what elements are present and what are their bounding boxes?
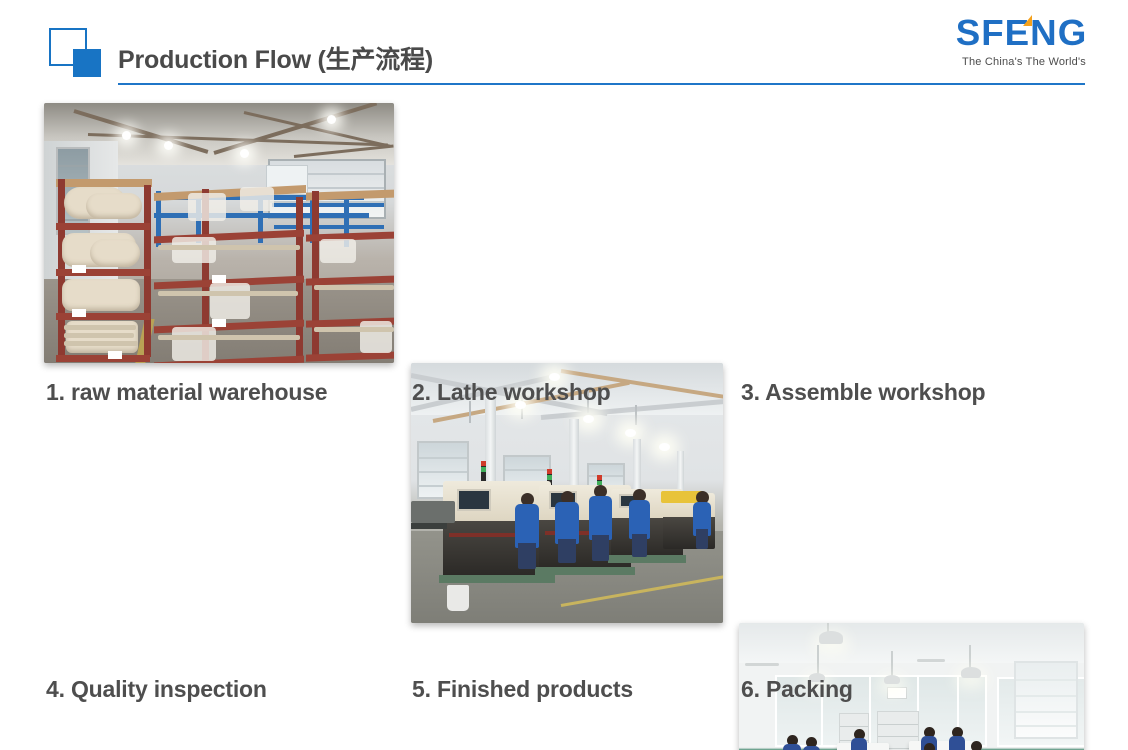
pendant-cord <box>969 645 971 669</box>
ceiling-lamp <box>240 149 249 158</box>
pendant-lamp <box>884 675 900 684</box>
factory-worker <box>629 489 650 557</box>
header-divider <box>118 83 1085 85</box>
bar-feeder <box>411 501 455 523</box>
ceiling-lamp <box>583 415 594 423</box>
step-caption-6: 6. Packing <box>741 676 853 703</box>
pendant-cord <box>817 645 819 675</box>
pendant-cord <box>891 651 893 677</box>
step-caption-2: 2. Lathe workshop <box>412 379 611 406</box>
lamp-hanger <box>635 405 637 425</box>
ceiling-fan <box>917 659 945 662</box>
assembly-worker <box>803 737 820 750</box>
logo-accent-triangle-icon <box>1023 15 1032 26</box>
pendant-lamp <box>819 631 843 644</box>
assembly-worker <box>917 743 941 750</box>
page-title: Production Flow (生产流程) <box>118 40 433 76</box>
assembly-worker <box>967 741 985 750</box>
raw-material-warehouse-photo <box>44 103 394 363</box>
signal-tower <box>481 461 486 483</box>
floor-bucket <box>447 585 469 611</box>
assembly-worker <box>851 729 867 750</box>
factory-worker <box>515 493 539 569</box>
logo-tagline: The China's The World's <box>916 56 1086 68</box>
ceiling-lamp <box>659 443 670 451</box>
factory-worker <box>555 491 579 563</box>
pendant-lamp <box>961 667 981 678</box>
logo-wordmark-wrap: SFENG <box>916 16 1086 50</box>
production-flow-grid: 1. raw material warehouse <box>0 96 1128 750</box>
assembly-worker <box>949 727 965 750</box>
wall-sign <box>887 687 907 699</box>
factory-worker <box>589 485 612 561</box>
ceiling-lamp <box>164 141 173 150</box>
factory-worker <box>693 491 711 549</box>
right-window <box>1014 661 1078 739</box>
bar-feeder <box>411 523 447 529</box>
two-squares-icon <box>46 28 116 78</box>
storage-rack <box>154 187 306 363</box>
storage-rack <box>56 179 152 361</box>
ceiling-fan <box>745 663 779 666</box>
ceiling-lamp <box>327 115 336 124</box>
step-caption-3: 3. Assemble workshop <box>741 379 985 406</box>
ceiling-lamp <box>122 131 131 140</box>
slide-header: Production Flow (生产流程) SFENG The China's… <box>0 0 1128 96</box>
production-flow-slide: Production Flow (生产流程) SFENG The China's… <box>0 0 1128 750</box>
ceiling-lamp <box>625 429 636 437</box>
storage-rack <box>306 191 394 359</box>
step-caption-4: 4. Quality inspection <box>46 676 267 703</box>
company-logo: SFENG The China's The World's <box>916 16 1086 74</box>
step-caption-5: 5. Finished products <box>412 676 633 703</box>
square-filled-shape <box>73 49 101 77</box>
assembly-worker <box>783 735 801 750</box>
step-caption-1: 1. raw material warehouse <box>46 379 327 406</box>
logo-wordmark: SFENG <box>956 16 1088 50</box>
